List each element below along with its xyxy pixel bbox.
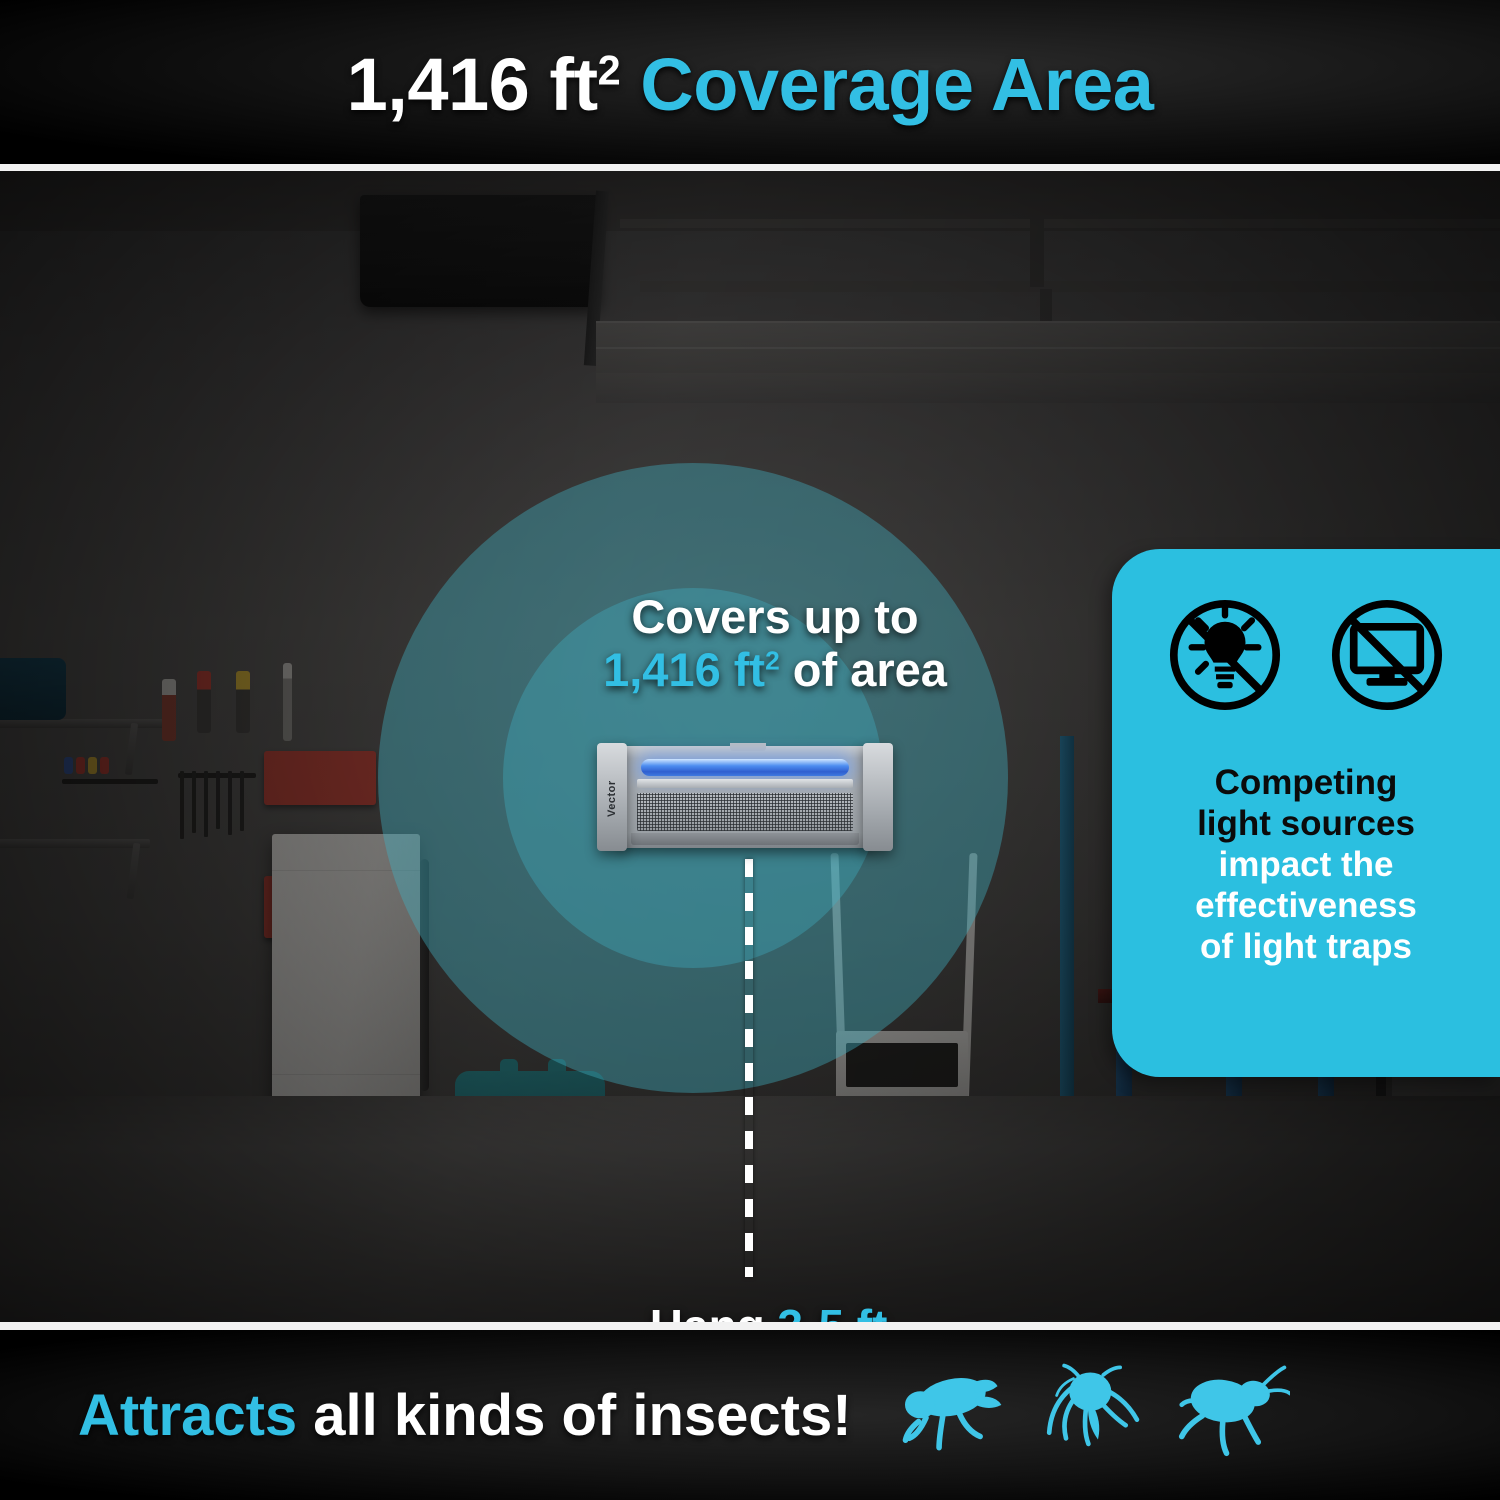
device-grille: [637, 793, 853, 831]
coverage-line1: Covers up to: [631, 590, 918, 643]
callout-black-line1: Competing: [1195, 763, 1417, 804]
hang-word: Hang: [650, 1300, 778, 1322]
uv-light-tube: [641, 759, 849, 776]
attracts-insects-text: Attracts all kinds of insects!: [78, 1382, 852, 1449]
top-banner: 1,416 ft2 Coverage Area: [0, 0, 1500, 168]
callout-message: Competing light sources impact the effec…: [1177, 763, 1435, 968]
fly-icon: [898, 1360, 1010, 1470]
callout-white-line1: impact the: [1195, 845, 1417, 886]
product-infographic: 1,416 ft2 Coverage Area: [0, 0, 1500, 1500]
attracts-highlight: Attracts: [78, 1383, 297, 1448]
callout-white-line2: effectiveness: [1195, 886, 1417, 927]
title-coverage-area: Coverage Area: [620, 43, 1153, 126]
device-shelf: [637, 779, 853, 788]
coverage-value: 1,416 ft: [603, 643, 765, 696]
no-monitor-icon: [1323, 591, 1451, 719]
device-brand-label: Vector: [601, 773, 623, 825]
divider-bottom: [0, 1322, 1500, 1330]
hang-height-dashed-line: [745, 859, 753, 1277]
page-title: 1,416 ft2 Coverage Area: [347, 42, 1154, 127]
mosquito-icon: [1038, 1360, 1150, 1470]
no-lightbulb-icon: [1161, 591, 1289, 719]
garage-scene-photo: Vector Covers up to 1,416 ft2 of area Ha…: [0, 171, 1500, 1322]
coverage-value-superscript: 2: [765, 645, 780, 675]
coverage-line2: of area: [780, 643, 947, 696]
attracts-rest: all kinds of insects!: [297, 1383, 851, 1448]
callout-black-line2: light sources: [1195, 804, 1417, 845]
device-top-tab: [730, 743, 766, 751]
insect-icon-row: [898, 1360, 1290, 1470]
divider-top: [0, 164, 1500, 171]
device-end-cap-right: [863, 743, 893, 851]
cockroach-icon: [1178, 1360, 1290, 1470]
hang-height-text: Hang 3-5 ft. off the ground: [535, 1301, 1015, 1322]
competing-light-callout: Competing light sources impact the effec…: [1112, 549, 1500, 1077]
title-area-value: 1,416 ft: [347, 43, 598, 126]
device-bottom-rail: [631, 833, 859, 845]
bottom-banner: Attracts all kinds of insects!: [0, 1330, 1500, 1500]
hang-distance: 3-5 ft.: [778, 1300, 901, 1322]
insect-light-trap-device: Vector: [597, 743, 893, 851]
callout-white-line3: of light traps: [1195, 927, 1417, 968]
coverage-callout-text: Covers up to 1,416 ft2 of area: [545, 591, 1005, 696]
callout-icon-row: [1161, 591, 1451, 719]
title-superscript: 2: [598, 46, 621, 93]
